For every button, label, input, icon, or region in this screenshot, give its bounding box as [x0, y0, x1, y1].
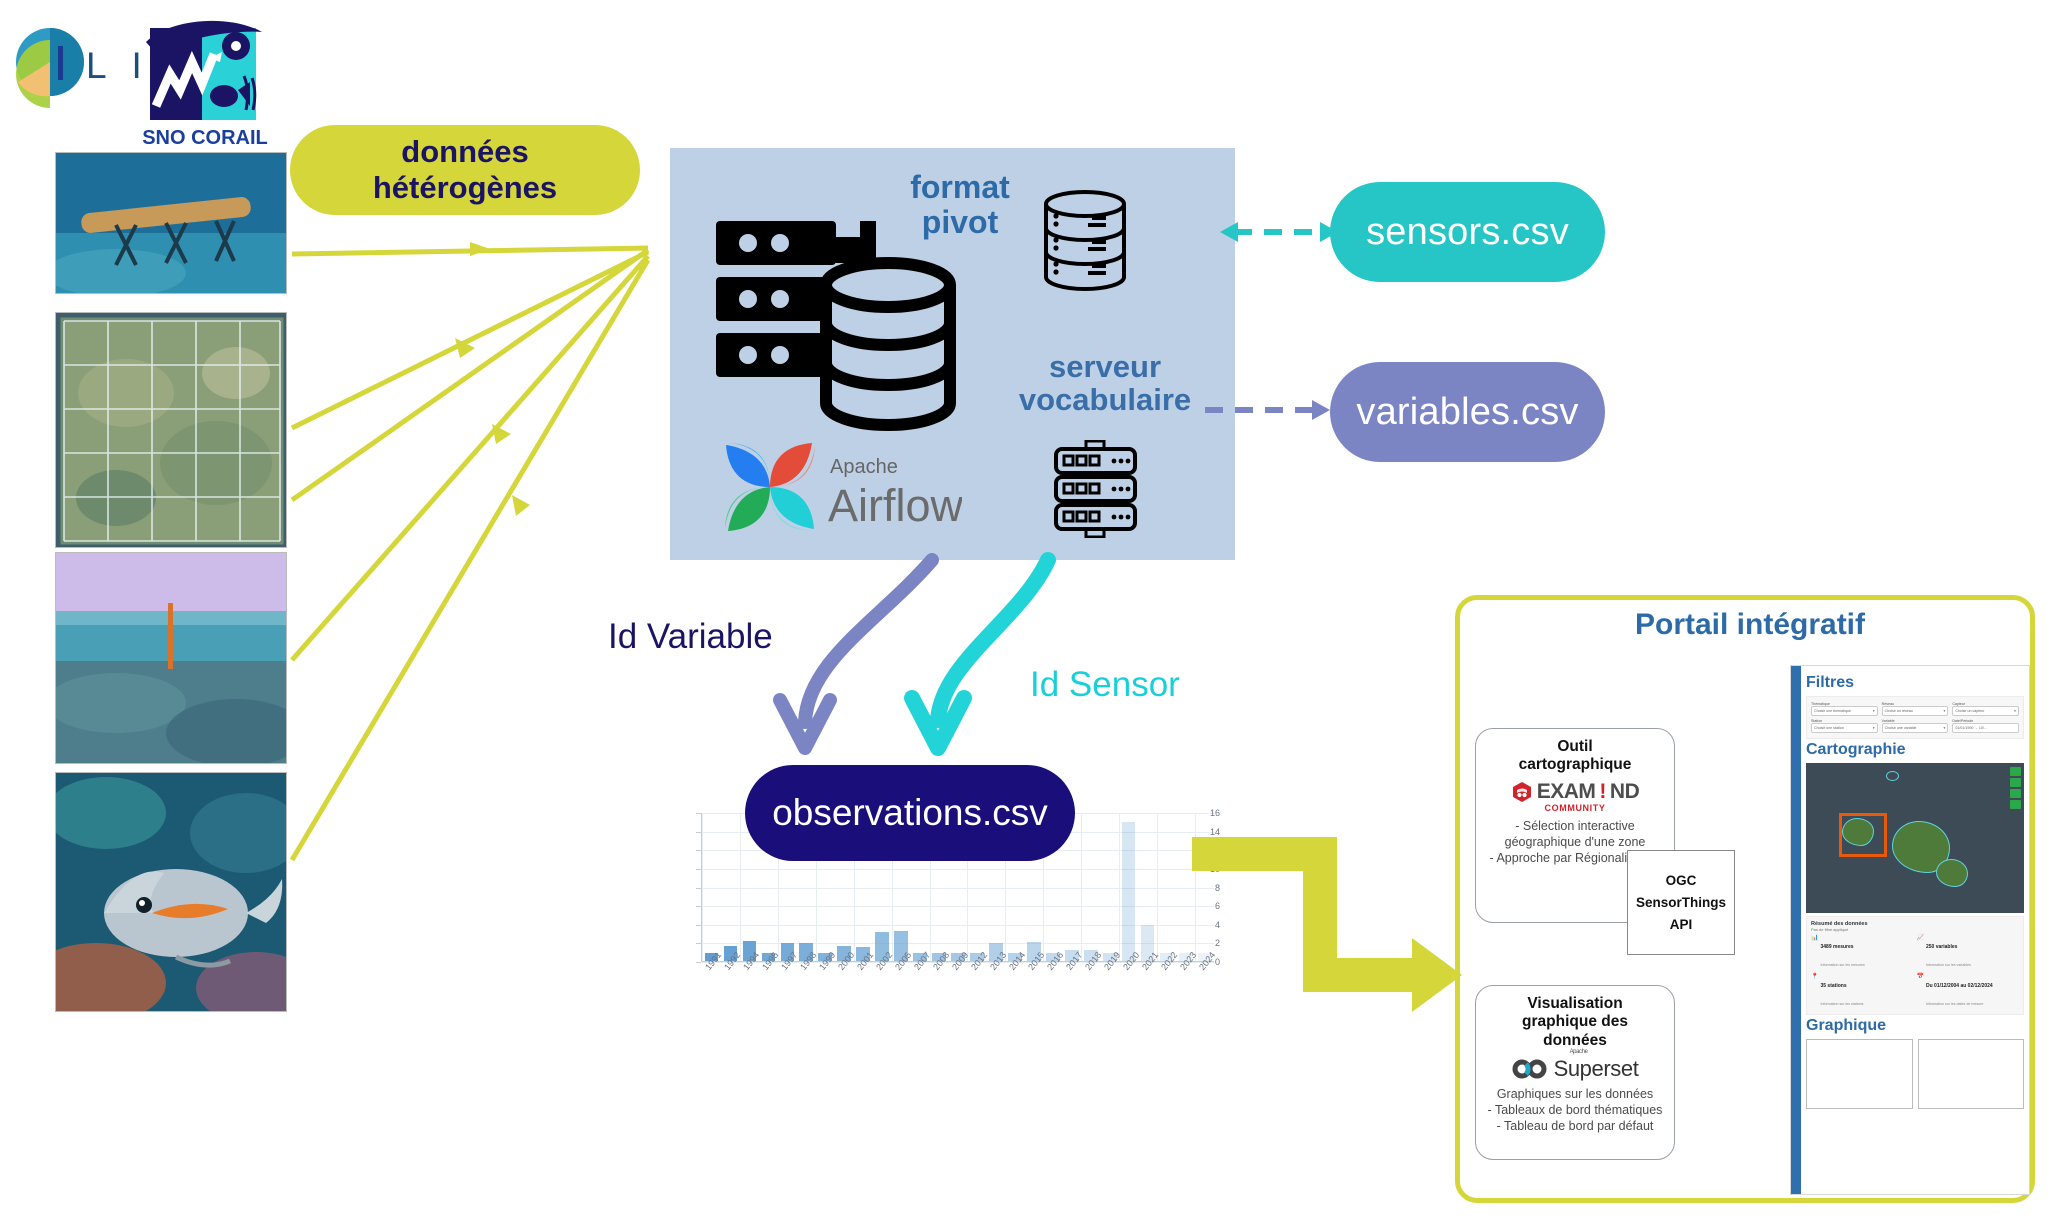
superset-name-text: Superset — [1554, 1056, 1639, 1081]
map-fullscreen-button[interactable] — [2010, 800, 2021, 809]
dashboard-body: Filtres Thématique Choisir une thématiqu… — [1801, 666, 2029, 1194]
chart-gridline-vertical — [702, 813, 703, 962]
photo-reef-fish — [55, 772, 287, 1012]
chart-y-tick-mark — [696, 869, 701, 870]
chart-y-tick-label: 12 — [1164, 845, 1220, 855]
chart-y-tick-mark — [696, 962, 701, 963]
chart-y-tick-label: 14 — [1164, 827, 1220, 837]
serveur-vocab-line-1: serveur — [985, 350, 1225, 383]
dashboard-filters-heading: Filtres — [1806, 674, 2024, 692]
id-variable-curved-arrow — [780, 560, 932, 748]
map-pin-icon: 📍 — [1811, 974, 1818, 1010]
bar-chart-icon: 📊 — [1811, 935, 1818, 971]
dashboard-filters-panel[interactable]: Thématique Choisir une thématique▾ Résea… — [1806, 696, 2024, 739]
photo-reef-quadrat-grid — [55, 312, 287, 548]
chart-gridline-vertical — [740, 813, 741, 962]
dashboard-chart-2[interactable] — [1918, 1039, 2025, 1109]
chart-y-tick-label: 2 — [1164, 938, 1220, 948]
chart-gridline-vertical — [1119, 813, 1120, 962]
photo-underwater-instrument — [55, 152, 287, 294]
examind-logo: EXAM ! ND — [1476, 780, 1674, 804]
dashboard-graph-heading: Graphique — [1806, 1017, 2024, 1035]
portail-integratif-title: Portail intégratif — [1560, 608, 1940, 642]
dashboard-map[interactable] — [1806, 763, 2024, 913]
dashboard-chart-placeholders — [1806, 1039, 2024, 1109]
chart-y-tick-mark — [696, 888, 701, 889]
sno-corail-logo: SNO CORAIL — [140, 14, 270, 154]
chart-gridline-vertical — [1081, 813, 1082, 962]
map-home-button[interactable] — [2010, 778, 2021, 787]
stat-sub: Information sur les stations — [1820, 1002, 1863, 1006]
airflow-name-text: Airflow — [828, 480, 962, 531]
ogc-line-2: SensorThings — [1636, 895, 1726, 910]
dashboard-carto-heading: Cartographie — [1806, 741, 2024, 759]
pill-line-1: données — [373, 134, 557, 170]
superset-infinity-icon — [1512, 1059, 1548, 1079]
viz-title-line-3: données — [1476, 1032, 1674, 1050]
sensors-dashed-arrow — [1220, 222, 1338, 242]
examind-hex-icon — [1511, 781, 1533, 803]
filter-station[interactable]: Station Choisir une station▾ — [1811, 719, 1878, 733]
id-variable-label: Id Variable — [608, 617, 773, 657]
chart-y-tick-mark — [696, 906, 701, 907]
map-zoom-button[interactable] — [2010, 789, 2021, 798]
stat-sub: Information sur les mesures — [1820, 963, 1864, 967]
ogc-sensorthings-api-box: OGC SensorThings API — [1627, 850, 1735, 955]
filter-select[interactable]: Choisir un capteur▾ — [1952, 706, 2019, 716]
id-sensor-label: Id Sensor — [1030, 665, 1180, 705]
calendar-icon: 📅 — [1917, 974, 1924, 1010]
viz-card-bullets: Graphiques sur les données - Tableaux de… — [1476, 1086, 1674, 1135]
filter-select[interactable]: Choisir une thématique▾ — [1811, 706, 1878, 716]
chart-y-tick-mark — [696, 925, 701, 926]
chart-y-axis — [701, 813, 702, 962]
superset-apache-text: Apache — [1570, 1049, 1588, 1055]
chevron-down-icon: ▾ — [1873, 726, 1875, 730]
chart-y-tick-mark — [696, 832, 701, 833]
sensors-csv-pill[interactable]: sensors.csv — [1330, 182, 1605, 282]
carto-title-line-2: cartographique — [1476, 756, 1674, 774]
chart-y-tick-mark — [696, 850, 701, 851]
summary-stats-grid: 📊 3489 mesuresInformation sur les mesure… — [1811, 935, 2019, 1010]
examind-bang: ! — [1599, 780, 1606, 804]
photo-lagoon-shoreline — [55, 552, 287, 764]
airflow-apache-text: Apache — [830, 456, 898, 478]
donnees-heterogenes-pill: données hétérogènes — [290, 125, 640, 215]
apache-airflow-logo: Apache Airflow — [712, 435, 962, 540]
map-selection-rectangle[interactable] — [1839, 813, 1887, 857]
sensors-database-icon — [1040, 188, 1130, 293]
serveur-vocabulaire-label: serveur vocabulaire — [985, 350, 1225, 417]
stat-value: Du 01/12/2004 au 02/12/2024 — [1926, 983, 1993, 989]
examind-community-text: COMMUNITY — [1476, 803, 1674, 813]
id-sensor-curved-arrow — [912, 560, 1048, 748]
chevron-down-icon: ▾ — [1944, 709, 1946, 713]
filter-capteur[interactable]: Capteur Choisir un capteur▾ — [1952, 702, 2019, 716]
filter-select[interactable]: 01/01/1900 → 10/... — [1952, 723, 2019, 733]
filter-reseau[interactable]: Réseau Choisir un réseau▾ — [1882, 702, 1949, 716]
chart-y-tick-label: 16 — [1164, 808, 1220, 818]
stat-sub: Information sur les variables — [1926, 963, 1971, 967]
svg-text:SNO CORAIL: SNO CORAIL — [142, 127, 268, 149]
filter-select[interactable]: Choisir une station▾ — [1811, 723, 1878, 733]
stat-dates: 📅 Du 01/12/2004 au 02/12/2024Information… — [1917, 974, 2020, 1010]
filter-variable[interactable]: Variable Choisir une variable▾ — [1882, 719, 1949, 733]
examind-word-2: ND — [1610, 780, 1639, 804]
viz-title-line-1: Visualisation — [1476, 995, 1674, 1013]
line-chart-icon: 📈 — [1917, 935, 1924, 971]
viz-card-title: Visualisation graphique des données — [1476, 986, 1674, 1050]
island-tahiti-iti — [1936, 859, 1968, 887]
variables-csv-pill[interactable]: variables.csv — [1330, 362, 1605, 462]
serveur-vocab-line-2: vocabulaire — [985, 383, 1225, 416]
stat-variables: 📈 250 variablesInformation sur les varia… — [1917, 935, 2020, 971]
portal-yellow-arrow — [1192, 854, 1462, 1012]
stat-stations: 📍 35 stationsInformation sur les station… — [1811, 974, 1914, 1010]
chart-y-tick-label: 4 — [1164, 920, 1220, 930]
stat-value: 250 variables — [1926, 944, 1957, 950]
stat-sub: Information sur les dates de mesure — [1926, 1002, 1983, 1006]
dashboard-side-rail — [1791, 666, 1801, 1194]
visualisation-graphique-card: Visualisation graphique des données Apac… — [1475, 985, 1675, 1160]
yellow-fan-arrowheads — [455, 242, 530, 516]
filter-select[interactable]: Choisir un réseau▾ — [1882, 706, 1949, 716]
sensors-csv-label: sensors.csv — [1366, 211, 1569, 254]
chart-gridline-vertical — [1157, 813, 1158, 962]
summary-subtitle: Pas de filtre appliqué — [1811, 927, 2019, 932]
stat-value: 3489 mesures — [1820, 944, 1853, 950]
dashboard-screenshot[interactable]: Filtres Thématique Choisir une thématiqu… — [1790, 665, 2030, 1195]
carto-title-line-1: Outil — [1476, 738, 1674, 756]
chart-y-tick-label: 10 — [1164, 864, 1220, 874]
observations-csv-pill[interactable]: observations.csv — [745, 765, 1075, 861]
viz-title-line-2: graphique des — [1476, 1013, 1674, 1031]
chevron-down-icon: ▾ — [1873, 709, 1875, 713]
pill-line-2: hétérogènes — [373, 170, 557, 206]
chart-y-tick-mark — [696, 813, 701, 814]
island-tetiaroa — [1886, 771, 1899, 781]
chevron-down-icon: ▾ — [2014, 709, 2016, 713]
chart-y-tick-mark — [696, 943, 701, 944]
filter-thematique[interactable]: Thématique Choisir une thématique▾ — [1811, 702, 1878, 716]
stat-value: 35 stations — [1820, 983, 1846, 989]
carto-card-title: Outil cartographique — [1476, 729, 1674, 775]
ogc-line-1: OGC — [1666, 873, 1697, 888]
dashboard-chart-1[interactable] — [1806, 1039, 1913, 1109]
ogc-line-3: API — [1670, 917, 1693, 932]
map-controls[interactable] — [2010, 767, 2021, 809]
map-back-button[interactable] — [2010, 767, 2021, 776]
chart-y-tick-label: 6 — [1164, 901, 1220, 911]
format-pivot-line-1: format — [875, 170, 1045, 205]
variables-csv-label: variables.csv — [1356, 391, 1578, 434]
vocabulary-server-rack-icon — [1048, 440, 1143, 538]
filter-select[interactable]: Choisir une variable▾ — [1882, 723, 1949, 733]
superset-logo: Apache Superset — [1476, 1056, 1674, 1082]
dashboard-summary-panel: Résumé des données Pas de filtre appliqu… — [1806, 916, 2024, 1015]
superset-word: Apache Superset — [1554, 1056, 1639, 1082]
yellow-fan-lines — [292, 248, 648, 860]
chevron-down-icon: ▾ — [1944, 726, 1946, 730]
chart-bar — [1122, 822, 1136, 962]
examind-word-1: EXAM — [1537, 780, 1596, 804]
chart-y-tick-label: 8 — [1164, 883, 1220, 893]
observations-csv-label: observations.csv — [772, 792, 1048, 834]
server-database-icon — [712, 215, 962, 445]
stat-mesures: 📊 3489 mesuresInformation sur les mesure… — [1811, 935, 1914, 971]
filter-date-periode[interactable]: Date/Période 01/01/1900 → 10/... — [1952, 719, 2019, 733]
